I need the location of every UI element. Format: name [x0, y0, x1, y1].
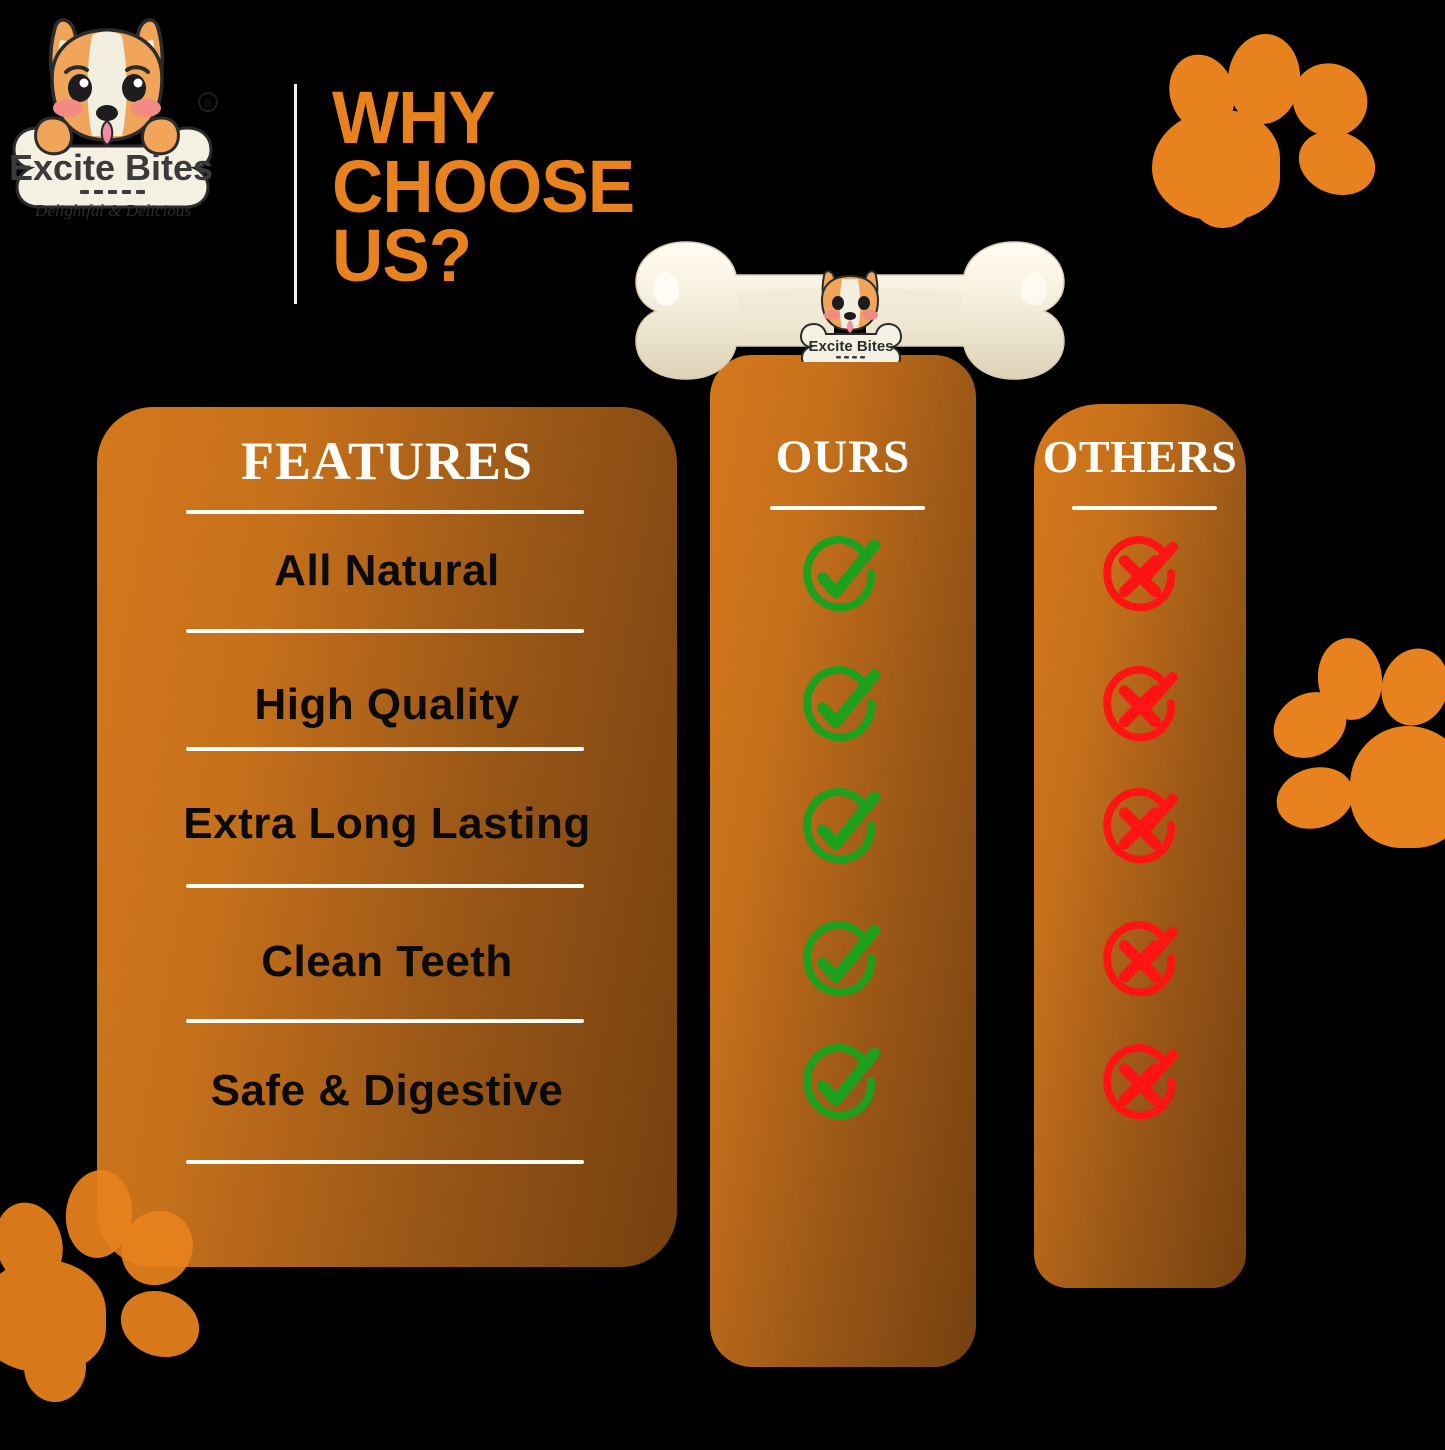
- headline-line-2: CHOOSE: [332, 153, 735, 222]
- cross-circle-icon: [1097, 665, 1183, 751]
- feature-label: High Quality: [254, 680, 519, 729]
- feature-divider: [186, 747, 584, 751]
- column-header-others: OTHERS: [1034, 430, 1246, 483]
- cross-circle-icon: [1097, 920, 1183, 1006]
- feature-label: Clean Teeth: [261, 937, 513, 986]
- check-circle-icon: [797, 787, 883, 873]
- dog-bone-icon: Excite Bites: [628, 236, 1072, 382]
- brand-tagline: Delightful & Delicious: [34, 201, 191, 220]
- column-header-features-label: FEATURES: [241, 431, 533, 491]
- bone-logo-badge: Excite Bites: [796, 258, 904, 362]
- feature-row-label: Extra Long Lasting: [97, 799, 677, 849]
- cross-circle-icon: [1097, 1043, 1183, 1129]
- check-circle-icon: [797, 920, 883, 1006]
- paw-print-icon: [1258, 630, 1445, 870]
- features-header-rule: [186, 510, 584, 514]
- check-circle-icon: [797, 1043, 883, 1129]
- check-circle-icon: [797, 665, 883, 751]
- brand-logo: R Excite Bites Delightful & Delicious: [8, 8, 218, 220]
- cross-circle-icon: [1097, 535, 1183, 621]
- cross-circle-icon: [1097, 787, 1183, 873]
- feature-divider: [186, 1019, 584, 1023]
- feature-row-label: Clean Teeth: [97, 937, 677, 987]
- feature-row-label: Safe & Digestive: [97, 1066, 677, 1116]
- corgi-dog-icon: R Excite Bites Delightful & Delicious: [8, 8, 218, 220]
- feature-label: Safe & Digestive: [211, 1066, 564, 1115]
- feature-label: All Natural: [274, 546, 500, 595]
- paw-print-icon: [0, 1160, 250, 1450]
- others-header-rule: [1072, 506, 1217, 510]
- registered-mark: R: [204, 98, 212, 110]
- bone-logo-label: Excite Bites: [808, 338, 893, 355]
- headline-line-1: WHY: [332, 84, 735, 153]
- headline-divider: [294, 84, 297, 304]
- feature-row-label: All Natural: [97, 546, 677, 596]
- column-header-ours: OURS: [710, 430, 976, 484]
- feature-row-label: High Quality: [97, 680, 677, 730]
- ours-header-rule: [770, 506, 925, 510]
- feature-divider: [186, 884, 584, 888]
- brand-name: Excite Bites: [9, 147, 213, 188]
- paw-print-icon: [1150, 22, 1410, 222]
- feature-divider: [186, 629, 584, 633]
- column-header-ours-label: OURS: [776, 431, 911, 483]
- check-circle-icon: [797, 535, 883, 621]
- column-header-features: FEATURES: [97, 430, 677, 492]
- column-header-others-label: OTHERS: [1043, 431, 1238, 482]
- infographic-canvas: R Excite Bites Delightful & Delicious WH…: [0, 0, 1445, 1445]
- feature-label: Extra Long Lasting: [183, 799, 590, 848]
